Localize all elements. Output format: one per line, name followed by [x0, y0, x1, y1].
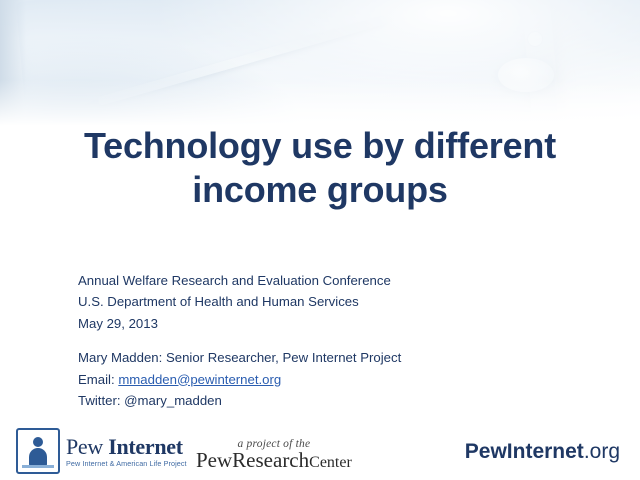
- wordmark-internet: Internet: [108, 434, 183, 459]
- pew-internet-wordmark: Pew Internet Pew Internet & American Lif…: [66, 435, 187, 468]
- person-body-icon: [29, 448, 47, 466]
- person-monitor-icon: [16, 428, 60, 474]
- page-title-line-2: income groups: [0, 168, 640, 212]
- pew-research-center-logo: a project of the PewResearchCenter: [196, 438, 352, 472]
- person-head-icon: [33, 437, 43, 447]
- wordmark-pew: Pew: [66, 434, 108, 459]
- prc-pew: Pew: [196, 448, 232, 472]
- website-url: PewInternet.org: [465, 440, 620, 464]
- twitter-handle: Twitter: @mary_madden: [78, 390, 558, 411]
- slide: Technology use by different income group…: [0, 0, 640, 480]
- pew-internet-tagline: Pew Internet & American Life Project: [66, 460, 187, 468]
- presentation-date: May 29, 2013: [78, 313, 558, 334]
- website-suffix: .org: [584, 440, 620, 463]
- page-title: Technology use by different income group…: [0, 124, 640, 212]
- website-pew: Pew: [465, 440, 507, 463]
- pew-internet-logo: Pew Internet Pew Internet & American Lif…: [16, 428, 187, 474]
- conference-name: Annual Welfare Research and Evaluation C…: [78, 270, 558, 291]
- slide-body-text: Annual Welfare Research and Evaluation C…: [78, 270, 558, 411]
- header-photo-band: [0, 0, 640, 132]
- presenter-name-title: Mary Madden: Senior Researcher, Pew Inte…: [78, 347, 558, 368]
- email-line: Email: mmadden@pewinternet.org: [78, 369, 558, 390]
- website-internet: Internet: [507, 440, 584, 463]
- slide-footer: Pew Internet Pew Internet & American Lif…: [0, 418, 640, 480]
- email-label: Email:: [78, 372, 118, 387]
- email-link[interactable]: mmadden@pewinternet.org: [118, 372, 281, 387]
- pew-internet-wordmark-text: Pew Internet: [66, 435, 187, 458]
- department-name: U.S. Department of Health and Human Serv…: [78, 291, 558, 312]
- prc-center: Center: [309, 454, 352, 471]
- logo-base-bar-icon: [22, 465, 54, 468]
- body-spacer: [78, 334, 558, 347]
- prc-research: Research: [232, 448, 309, 472]
- page-title-line-1: Technology use by different: [0, 124, 640, 168]
- pew-research-center-wordmark: PewResearchCenter: [196, 449, 352, 472]
